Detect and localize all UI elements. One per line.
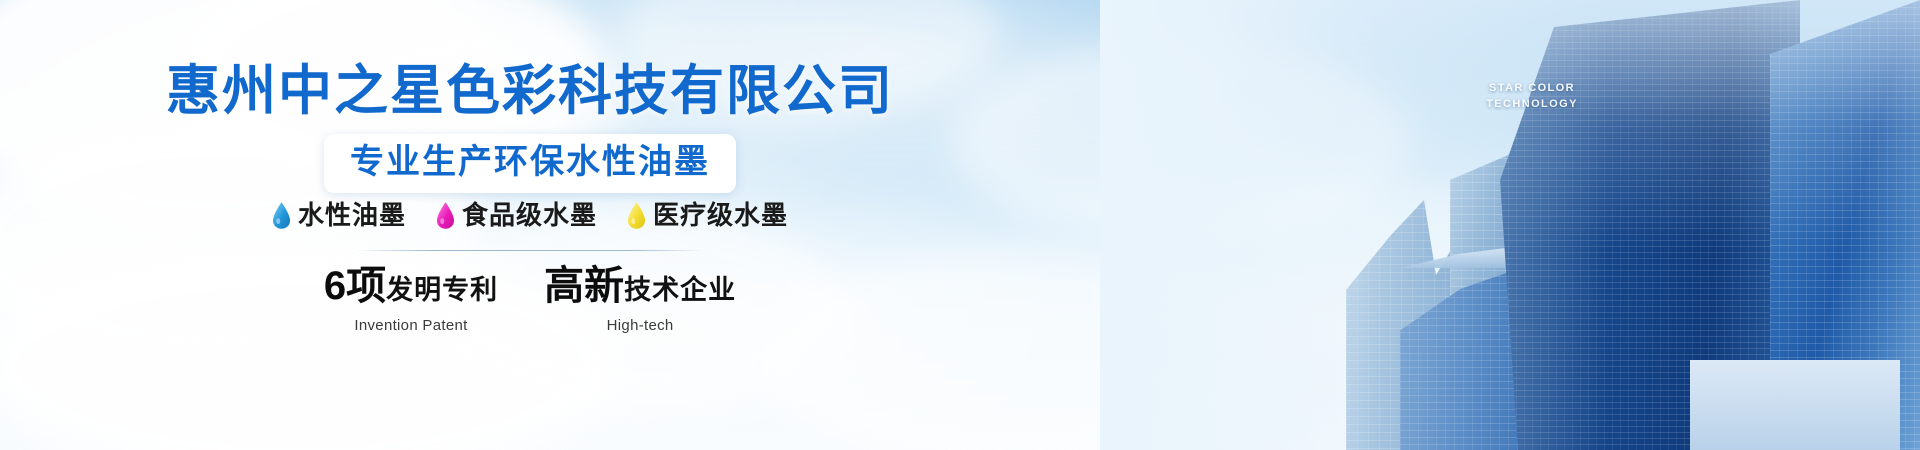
water-drop-icon [436,202,455,229]
ink-product-label: 食品级水墨 [462,198,597,232]
building-foreground [1690,360,1900,450]
tagline-container: 专业生产环保水性油墨 [0,134,1060,193]
tower-brand-line1: STAR COLOR [1472,80,1592,96]
credential-english: High-tech [544,315,736,337]
credential-chinese: 6项发明专利 [324,262,498,314]
ink-product-label: 医疗级水墨 [653,198,788,232]
credential-item: 高新技术企业 High-tech [544,262,736,337]
ink-product-list: 水性油墨 食品级水墨 [0,198,1060,232]
section-divider [355,250,705,251]
credential-highlight: 6项 [324,264,386,308]
credential-english: Invention Patent [324,315,498,337]
tower-brand-line2: TECHNOLOGY [1472,96,1592,112]
tagline-pill: 专业生产环保水性油墨 [324,134,736,193]
banner-content: 惠州中之星色彩科技有限公司 专业生产环保水性油墨 水性油墨 [0,0,1060,450]
credential-rest: 技术企业 [624,275,736,305]
ink-product-item: 医疗级水墨 [627,198,788,232]
company-title: 惠州中之星色彩科技有限公司 [0,58,1060,124]
tower-brand-label: STAR COLOR TECHNOLOGY [1472,80,1592,112]
credential-item: 6项发明专利 Invention Patent [324,262,498,337]
water-drop-icon [272,202,291,229]
ink-product-item: 水性油墨 [272,198,406,232]
credential-chinese: 高新技术企业 [544,262,736,314]
credential-highlight: 高新 [544,264,624,308]
ink-product-item: 食品级水墨 [436,198,597,232]
ink-product-label: 水性油墨 [298,198,406,232]
water-drop-icon [627,202,646,229]
promotional-banner: Star Color STAR COLOR TECHNOLOGY 惠州中之星色彩… [0,0,1920,450]
skyline-graphic [1100,0,1920,450]
credential-list: 6项发明专利 Invention Patent 高新技术企业 High-tech [0,262,1060,337]
credential-rest: 发明专利 [386,275,498,305]
